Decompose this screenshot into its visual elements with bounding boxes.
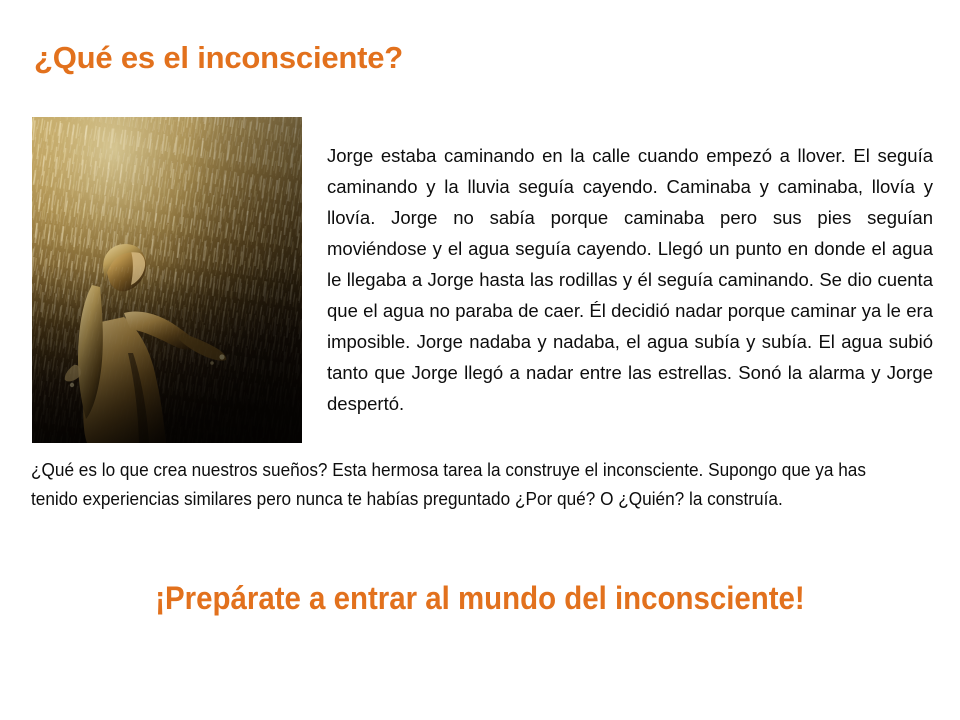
closing-heading: ¡Prepárate a entrar al mundo del inconsc… <box>0 578 960 618</box>
page-title: ¿Qué es el inconsciente? <box>34 40 914 76</box>
presentation-slide: ¿Qué es el inconsciente? <box>0 0 960 720</box>
rain-photo-graphic <box>32 117 302 443</box>
closing-heading-text: ¡Prepárate a entrar al mundo del inconsc… <box>155 578 804 618</box>
closing-paragraph: ¿Qué es lo que crea nuestros sueños? Est… <box>31 455 869 513</box>
story-paragraph: Jorge estaba caminando en la calle cuand… <box>327 140 933 419</box>
person-standing-in-golden-rain-photo <box>32 117 302 443</box>
